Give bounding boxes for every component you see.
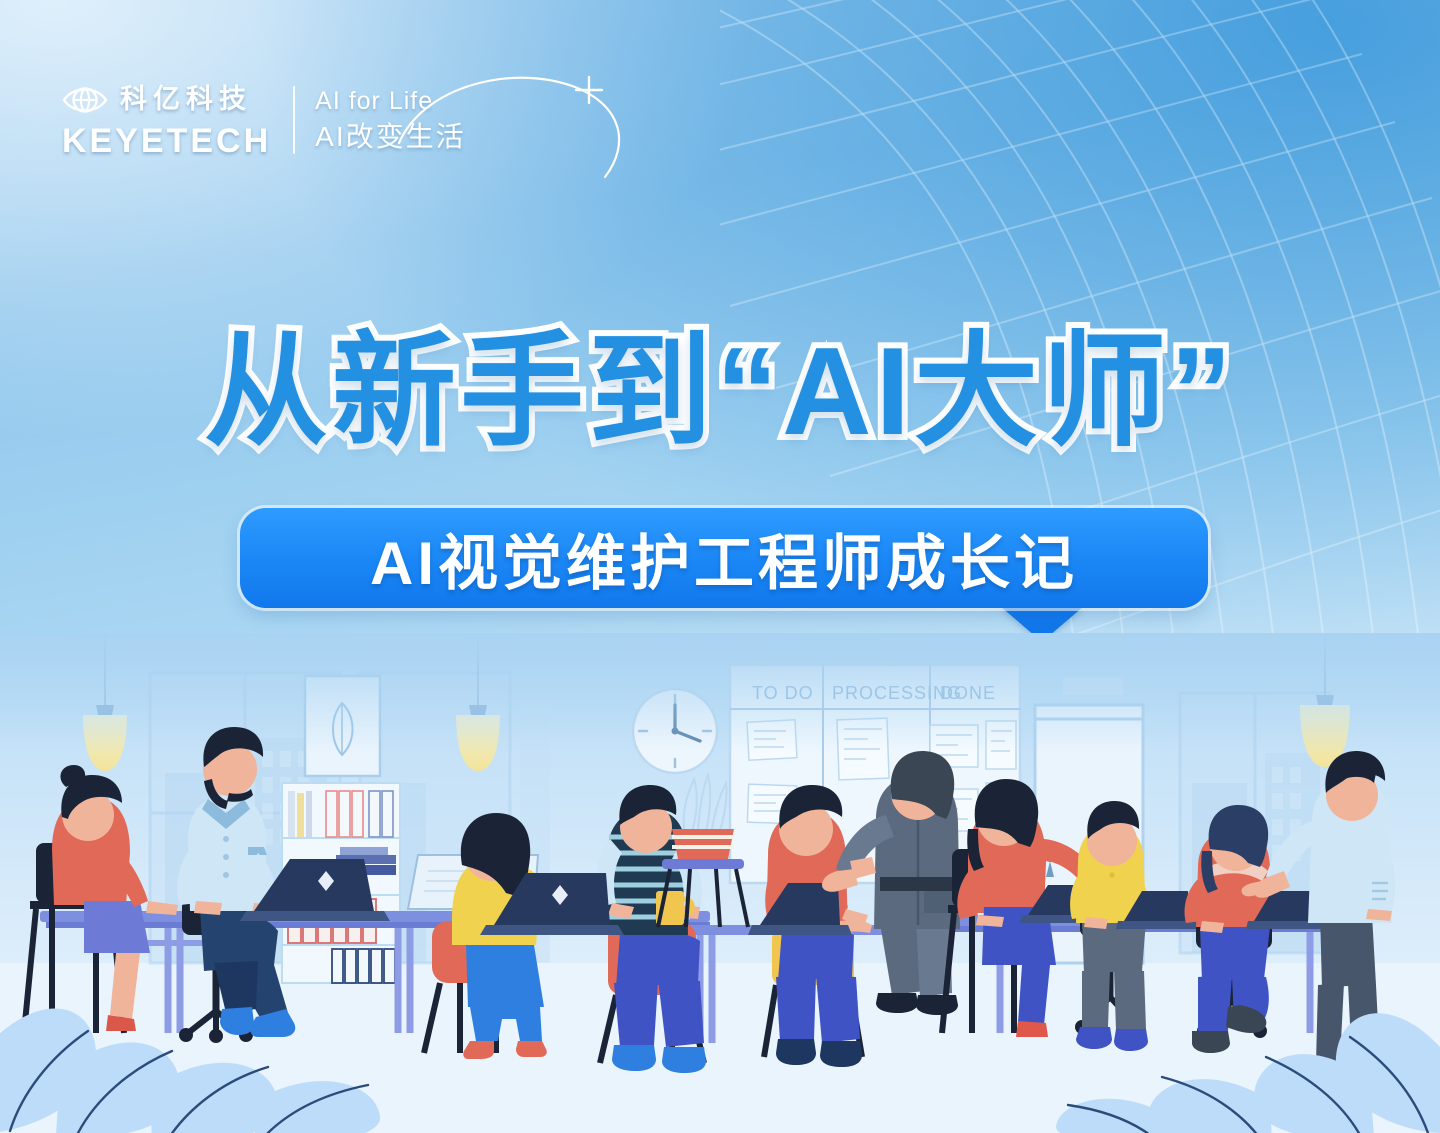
brand-slogan-cn: AI改变生活 (315, 121, 465, 153)
brand-slogan-block: AI for Life AI改变生活 (315, 87, 465, 154)
page-title: 从新手到“AI大师” (0, 330, 1440, 454)
eye-globe-icon (62, 83, 108, 117)
banner-body: AI视觉维护工程师成长记 (240, 508, 1208, 608)
brand-name-en: KEYETECH (62, 124, 271, 158)
logo-divider (293, 86, 295, 154)
subtitle-text: AI视觉维护工程师成长记 (370, 515, 1078, 602)
brand-name-cn: 科亿科技 (120, 86, 252, 113)
brand-logo-left: 科亿科技 KEYETECH (62, 83, 271, 158)
subtitle-banner: AI视觉维护工程师成长记 (240, 508, 1208, 608)
brand-slogan-en: AI for Life (315, 87, 465, 116)
office-team-working-illustration: TO DO PROCESSING DONE (0, 633, 1440, 1133)
poster-canvas: 科亿科技 KEYETECH AI for Life AI改变生活 从新手到“AI… (0, 0, 1440, 1133)
brand-logo: 科亿科技 KEYETECH AI for Life AI改变生活 (62, 74, 466, 166)
